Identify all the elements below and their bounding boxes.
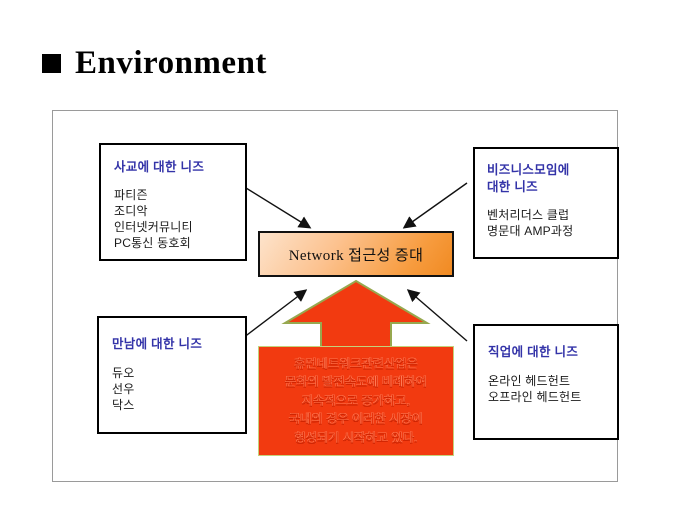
need-box-social-body: 파티즌 조디악 인터넷커뮤니티 PC통신 동호회 [114, 188, 245, 252]
connector-social-to-center [238, 183, 309, 227]
page-title: Environment [42, 47, 267, 80]
need-box-business: 비즈니스모임에 대한 니즈 벤처리더스 클럽 명문대 AMP과정 [473, 147, 619, 259]
need-box-social-heading: 사교에 대한 니즈 [114, 159, 245, 176]
center-node-label: Network 접근성 증대 [289, 244, 424, 265]
need-box-business-body: 벤처리더스 클럽 명문대 AMP과정 [487, 208, 617, 240]
statement-text: 휴먼네트워크관련산업은 문화의 발전속도에 비례하여 지속적으로 증가하고, 국… [285, 355, 427, 448]
need-box-business-heading: 비즈니스모임에 대한 니즈 [487, 162, 617, 196]
square-bullet-icon [42, 54, 61, 73]
page-title-text: Environment [75, 47, 267, 80]
need-box-meeting: 만남에 대한 니즈 듀오 선우 닥스 [97, 316, 247, 434]
need-box-meeting-body: 듀오 선우 닥스 [112, 366, 245, 414]
connector-business-to-center [405, 183, 467, 227]
statement-box: 휴먼네트워크관련산업은 문화의 발전속도에 비례하여 지속적으로 증가하고, 국… [258, 346, 454, 456]
need-box-job-heading: 직업에 대한 니즈 [488, 344, 617, 361]
need-box-job-body: 온라인 헤드헌트 오프라인 헤드헌트 [488, 374, 617, 406]
center-node: Network 접근성 증대 [258, 231, 454, 277]
up-arrow-shape [281, 279, 431, 351]
need-box-meeting-heading: 만남에 대한 니즈 [112, 336, 245, 353]
need-box-social: 사교에 대한 니즈 파티즌 조디악 인터넷커뮤니티 PC통신 동호회 [99, 143, 247, 261]
need-box-job: 직업에 대한 니즈 온라인 헤드헌트 오프라인 헤드헌트 [473, 324, 619, 440]
diagram-frame: Network 접근성 증대 휴먼네트워크관련산업은 문화의 발전속도에 비례하… [52, 110, 618, 482]
